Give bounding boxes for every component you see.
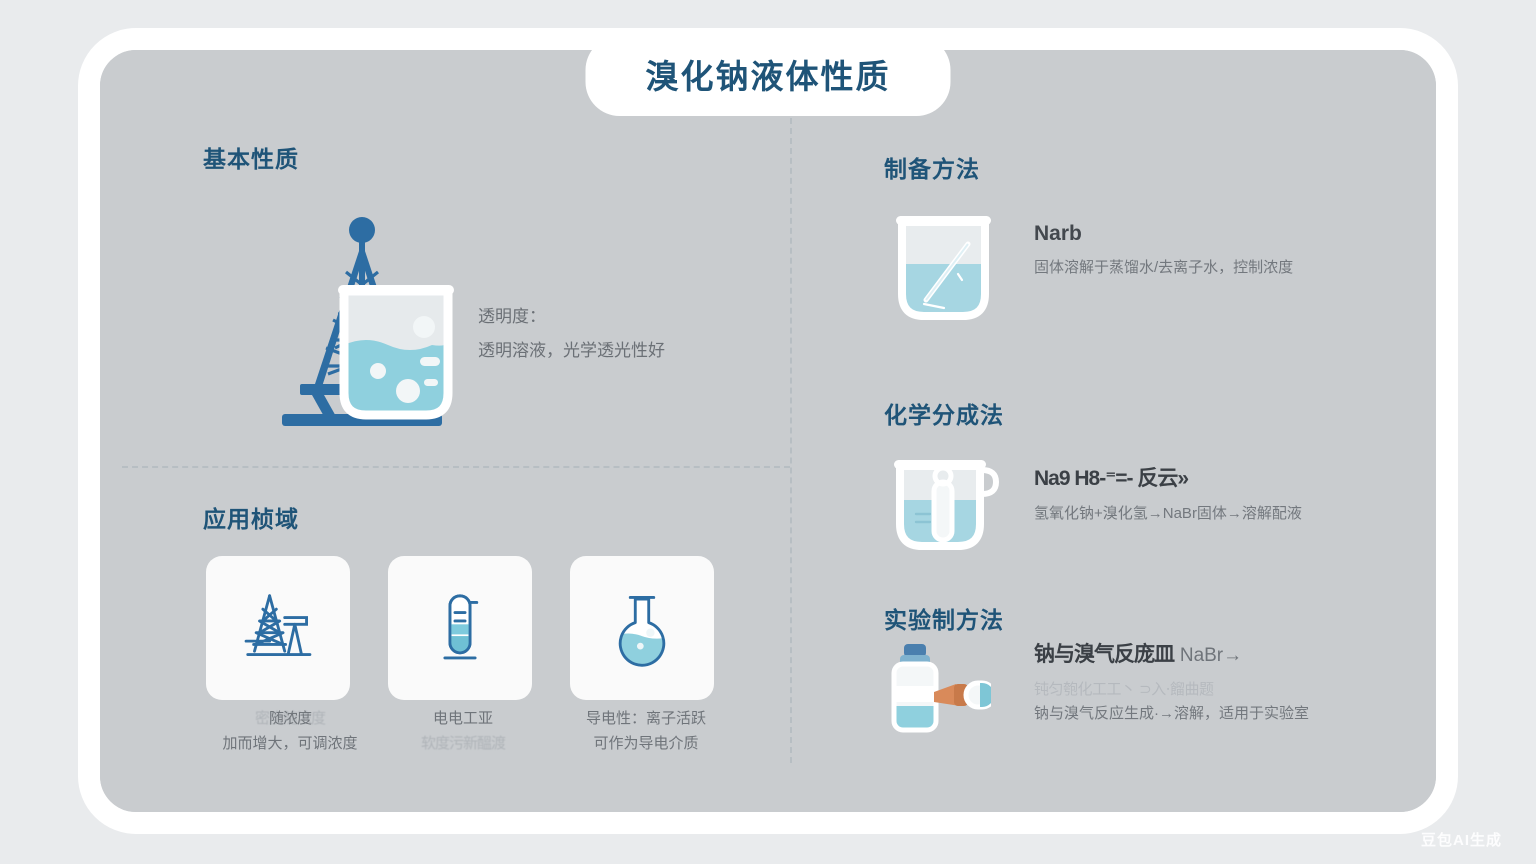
section-title-preparation: 制备方法 — [884, 150, 980, 184]
method-heading: Na9 H8-⁼=- 反云» — [1034, 462, 1394, 492]
method-heading-text: 钠与溴气反庞皿 — [1034, 643, 1174, 666]
method-heading-formula: NaBr→ — [1180, 645, 1242, 666]
method-subtext: 钠与溴气反应生成·→溶解，适用于实验室 — [1034, 702, 1394, 726]
method-text-experimental: 钠与溴气反庞皿 NaBr→ 钝匀匏化工工丶 ⊃入⋅餾曲题 钠与溴气反应生成·→溶… — [1034, 638, 1394, 726]
caption-line-2: 加而增大，可调浓度 — [222, 735, 357, 752]
method-text-chemical: Na9 H8-⁼=- 反云» 氢氧化钠+溴化氢→NaBr固体→溶解配液 — [1034, 462, 1394, 526]
application-card-oil[interactable] — [206, 556, 350, 700]
section-title-basic-properties: 基本性质 — [203, 140, 299, 174]
vertical-divider — [790, 108, 792, 763]
method-text-dissolution: Narb 固体溶解于蒸馏水/去离子水，控制浓度 — [1034, 222, 1394, 280]
caption-line-1: 电电工亚 — [368, 706, 558, 731]
method-heading: Narb — [1034, 222, 1394, 246]
infographic-canvas: 溴化钠液体性质 基本性质 — [0, 0, 1536, 864]
method-subtext: 氢氧化钠+溴化氢→NaBr固体→溶解配液 — [1034, 502, 1394, 526]
application-card-chemical[interactable] — [388, 556, 532, 700]
transparency-text-block: 透明度： 透明溶液，光学透光性好 — [478, 300, 665, 368]
application-caption-chemical: 电电工亚 软度污新醞渡 — [368, 706, 558, 756]
round-flask-icon — [600, 584, 684, 673]
section-title-applications: 应用桢域 — [203, 500, 299, 534]
transparency-label: 透明度： — [478, 300, 665, 334]
caption-line-1: 导电性：离子活跃 — [551, 706, 741, 731]
application-card-conductivity[interactable] — [570, 556, 714, 700]
page-title: 溴化钠液体性质 — [646, 50, 891, 98]
watermark: 豆包AI生成 — [1421, 829, 1502, 850]
caption-line-2: 可作为导电介质 — [551, 731, 741, 756]
beaker-stir-rod-icon — [886, 212, 1001, 327]
method-subtext-ghost: 钝匀匏化工工丶 ⊃入⋅餾曲题 — [1034, 678, 1394, 702]
horizontal-divider — [122, 466, 790, 468]
application-card-list — [206, 556, 726, 700]
application-caption-conductivity: 导电性：离子活跃 可作为导电介质 — [551, 706, 741, 756]
method-heading-text: Na9 H8-⁼=- 反云» — [1034, 467, 1188, 490]
transparency-value: 透明溶液，光学透光性好 — [478, 334, 665, 368]
section-title-experimental: 实验制方法 — [884, 601, 1004, 635]
reagent-bottle-dropper-icon — [876, 636, 991, 751]
title-pill: 溴化钠液体性质 — [586, 36, 951, 116]
application-caption-oil: 密度随浓度 随浓度 加而增大，可调浓度 — [195, 706, 385, 756]
method-subtext: 固体溶解于蒸馏水/去离子水，控制浓度 — [1034, 256, 1394, 280]
beaker-bubbles-icon — [336, 283, 456, 423]
method-heading: 钠与溴气反庞皿 NaBr→ — [1034, 638, 1394, 668]
oil-derrick-icon — [236, 584, 320, 673]
beaker-test-tube-icon — [886, 452, 1001, 567]
caption-overlay-text: 随浓度 — [195, 706, 385, 731]
caption-line-2: 软度污新醞渡 — [368, 731, 558, 756]
test-tube-stand-icon — [418, 584, 502, 673]
section-title-chemical-synthesis: 化学分成法 — [884, 396, 1004, 430]
